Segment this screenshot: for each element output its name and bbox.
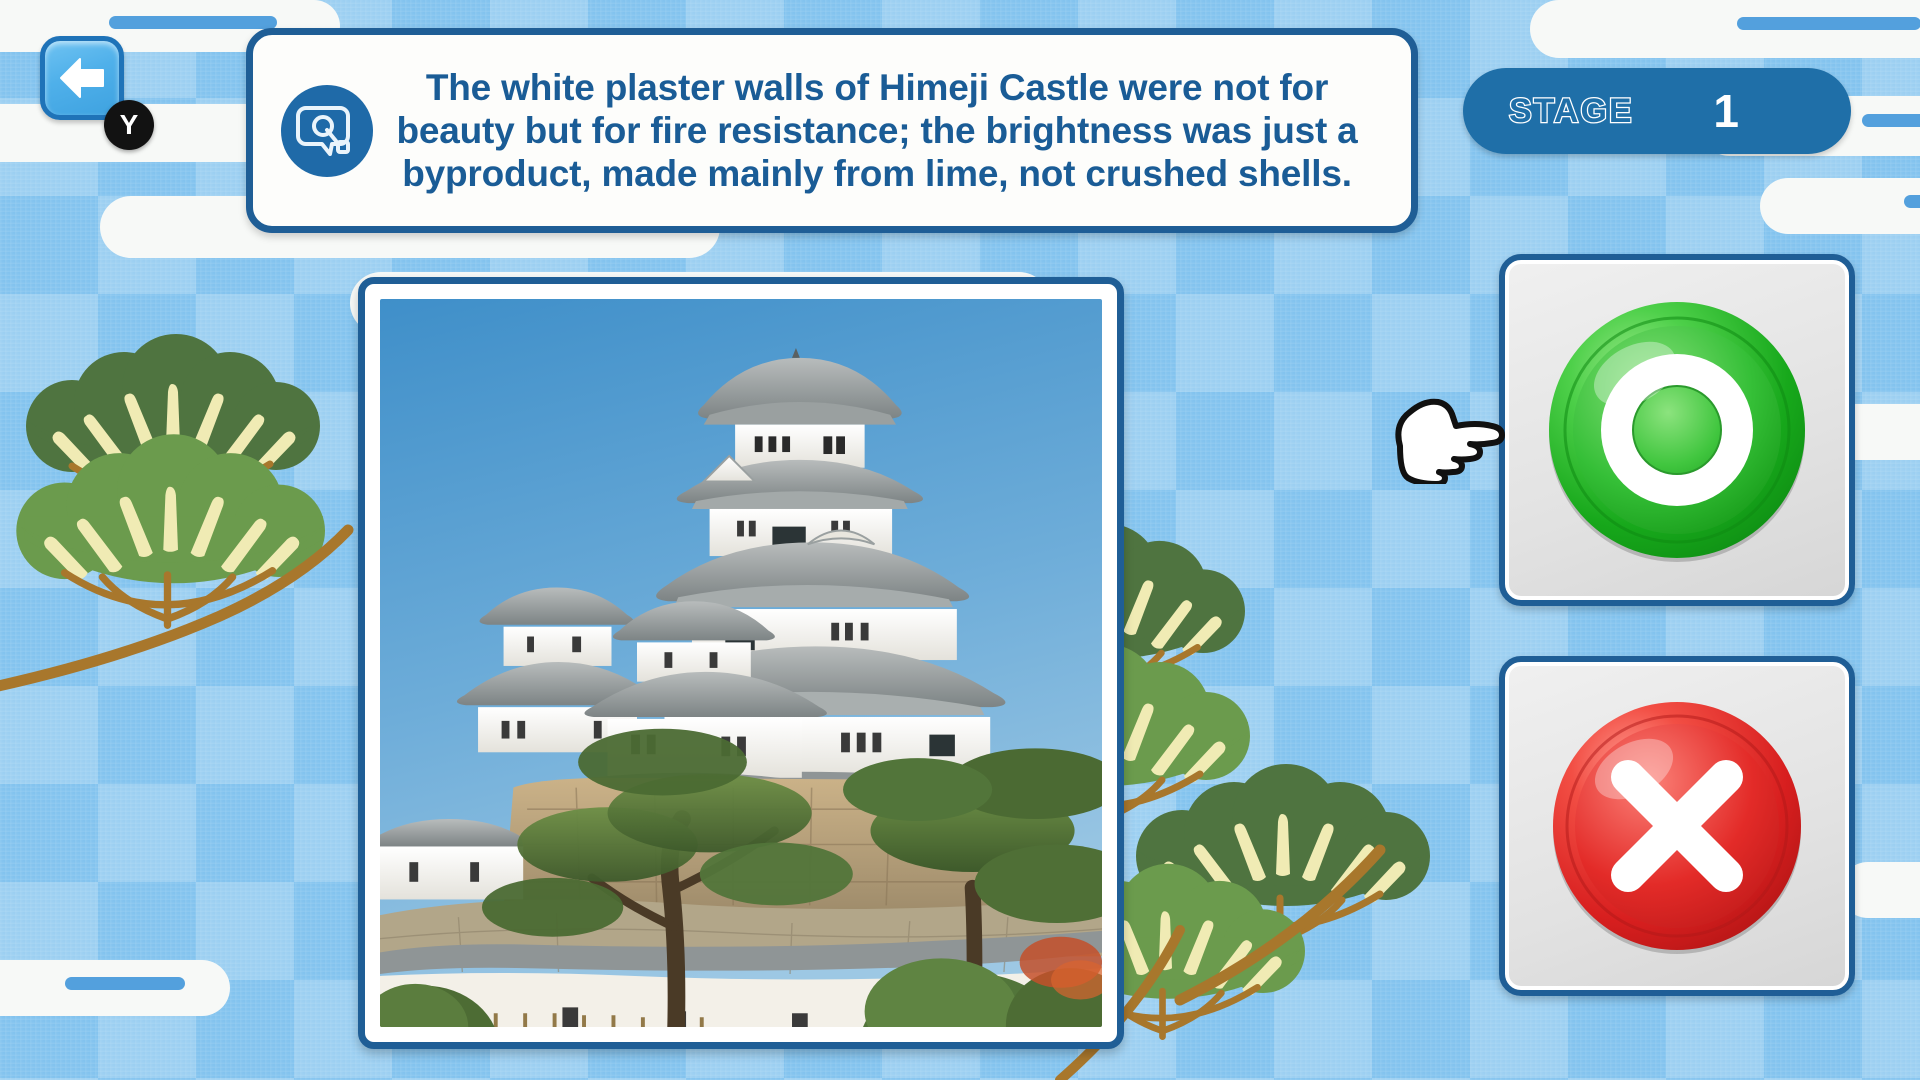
himeji-castle-photo xyxy=(380,299,1102,1027)
circle-correct-icon xyxy=(1543,296,1811,564)
pointing-hand-cursor xyxy=(1388,388,1506,484)
game-screen: Y The white plaster walls of Himeji Cast… xyxy=(0,0,1920,1080)
stage-badge: STAGE 1 xyxy=(1463,68,1851,154)
left-arrow-icon xyxy=(58,57,106,99)
cloud-accent-bar xyxy=(1737,17,1920,30)
question-icon-wrap xyxy=(253,85,387,177)
question-panel: The white plaster walls of Himeji Castle… xyxy=(246,28,1418,233)
cross-wrong-icon xyxy=(1546,695,1808,957)
question-photo-frame xyxy=(358,277,1124,1049)
cloud-accent-bar xyxy=(1904,195,1920,208)
stage-label: STAGE xyxy=(1509,92,1634,131)
question-text: The white plaster walls of Himeji Castle… xyxy=(387,66,1411,196)
button-hint-y-badge: Y xyxy=(104,100,154,150)
cloud-shape xyxy=(1760,178,1920,234)
stage-number: 1 xyxy=(1713,84,1739,138)
answer-correct-button[interactable] xyxy=(1499,254,1855,606)
button-hint-y-label: Y xyxy=(120,109,139,141)
pine-tree-motif xyxy=(10,430,325,635)
question-mark-speech-bubble-icon xyxy=(281,85,373,177)
cloud-accent-bar xyxy=(65,977,185,990)
cloud-accent-bar xyxy=(109,16,277,29)
cloud-accent-bar xyxy=(1862,114,1920,127)
answer-wrong-button[interactable] xyxy=(1499,656,1855,996)
